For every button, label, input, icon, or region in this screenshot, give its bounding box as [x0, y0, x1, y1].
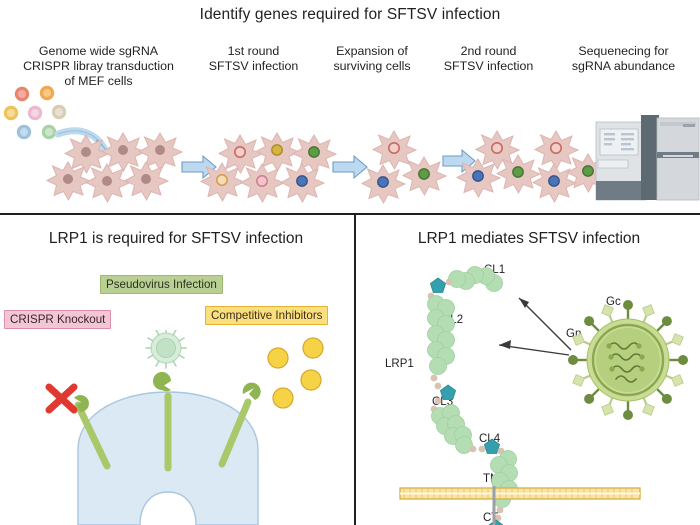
stage-label-first-infection: 1st round SFTSV infection — [196, 44, 311, 74]
lrp1-pentagon-2 — [440, 385, 455, 400]
lrp1-cl2-domain — [428, 296, 455, 375]
competitive-inhibitor-particles — [268, 338, 323, 408]
bottom-right-panel-title: LRP1 mediates SFTSV infection — [358, 230, 700, 248]
surviving-cell-population — [362, 131, 446, 203]
stage-label-second-infection: 2nd round SFTSV infection — [431, 44, 546, 74]
callout-crispr-knockout: CRISPR Knockout — [4, 310, 111, 329]
top-panel-graphics — [0, 82, 700, 210]
process-arrow-2 — [333, 156, 367, 178]
lrp1-receptor-chain — [428, 267, 518, 525]
stage-label-expansion: Expansion of surviving cells — [317, 44, 427, 74]
bottom-left-graphics — [0, 330, 354, 525]
figure-root: Identify genes required for SFTSV infect… — [0, 0, 700, 525]
mef-cell-population — [47, 133, 182, 202]
stage-label-sequencing: Sequenecing for sgRNA abundance — [551, 44, 696, 74]
callout-competitive-inhibitors: Competitive Inhibitors — [205, 306, 328, 325]
top-panel-title: Identify genes required for SFTSV infect… — [0, 6, 700, 24]
transduced-cell-population — [201, 133, 336, 202]
arrowhead-cl2 — [499, 340, 511, 349]
pseudovirus-particle — [146, 330, 186, 368]
callout-pseudovirus-infection: Pseudovirus Infection — [100, 275, 223, 294]
knockout-x-icon — [49, 387, 74, 410]
lrp1-pentagon-4 — [488, 520, 503, 525]
bottom-right-graphics — [356, 250, 700, 525]
bottom-left-panel-title: LRP1 is required for SFTSV infection — [0, 230, 352, 248]
lrp1-pentagon-1 — [430, 278, 445, 293]
sequencing-machine-icon — [596, 115, 699, 200]
lrp1-pentagon-3 — [484, 439, 499, 454]
lrp1-cl1-domain — [449, 267, 503, 292]
plasma-membrane-bilayer — [400, 488, 640, 499]
second-round-cell-population — [457, 131, 610, 202]
lrp1-cl3-domain — [432, 405, 473, 454]
sftsv-virion — [568, 300, 688, 420]
divider-horizontal — [0, 213, 700, 215]
